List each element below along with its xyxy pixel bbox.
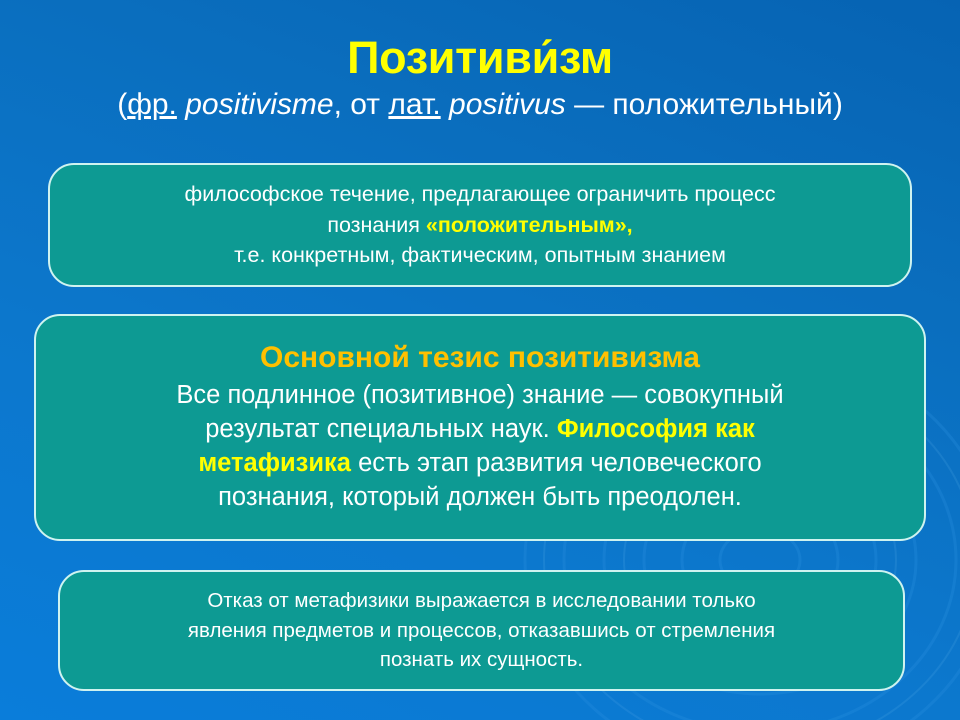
consequence-panel: Отказ от метафизики выражается в исследо…: [58, 570, 905, 691]
thesis-line-3-suffix: есть этап развития человеческого: [351, 449, 762, 477]
definition-line-2: познания «положительным»,: [50, 210, 910, 241]
consequence-line-2: явления предметов и процессов, отказавши…: [60, 616, 903, 646]
consequence-line-1: Отказ от метафизики выражается в исследо…: [60, 586, 903, 616]
subtitle-middle: , от: [334, 88, 389, 121]
slide-header: Позитиви́зм (фр. positivisme, от лат. po…: [0, 34, 960, 123]
subtitle-close-paren: ): [833, 88, 843, 121]
etymology-subtitle: (фр. positivisme, от лат. positivus — по…: [0, 88, 960, 123]
definition-line-2-prefix: познания: [327, 213, 426, 237]
thesis-line-4: познания, который должен быть преодолен.: [36, 481, 924, 515]
thesis-highlight-philosophy: Философия как: [557, 415, 755, 443]
definition-panel: философское течение, предлагающее ограни…: [48, 163, 912, 287]
thesis-highlight-metaphysics: метафизика: [198, 449, 351, 477]
thesis-panel: Основной тезис позитивизма Все подлинное…: [34, 314, 926, 541]
subtitle-open-paren: (: [117, 88, 127, 121]
thesis-line-2: результат специальных наук. Философия ка…: [36, 413, 924, 447]
subtitle-gloss: — положительный: [566, 88, 833, 121]
consequence-line-3: познать их сущность.: [60, 645, 903, 675]
definition-line-1: философское течение, предлагающее ограни…: [50, 179, 910, 210]
definition-line-2-suffix: ,: [627, 213, 633, 237]
page-title: Позитиви́зм: [0, 34, 960, 81]
thesis-line-1: Все подлинное (позитивное) знание — сово…: [36, 379, 924, 413]
subtitle-lat-abbrev: лат.: [388, 88, 440, 121]
definition-line-3: т.е. конкретным, фактическим, опытным зн…: [50, 240, 910, 271]
subtitle-fr-term: positivisme: [177, 88, 334, 121]
thesis-line-2-prefix: результат специальных наук.: [205, 415, 557, 443]
subtitle-fr-abbrev: фр.: [127, 88, 177, 121]
thesis-line-3: метафизика есть этап развития человеческ…: [36, 447, 924, 481]
thesis-heading: Основной тезис позитивизма: [36, 340, 924, 376]
definition-highlight-positive: «положительным»: [426, 213, 627, 237]
subtitle-lat-term: positivus: [441, 88, 566, 121]
slide-root: Позитиви́зм (фр. positivisme, от лат. po…: [0, 0, 960, 720]
